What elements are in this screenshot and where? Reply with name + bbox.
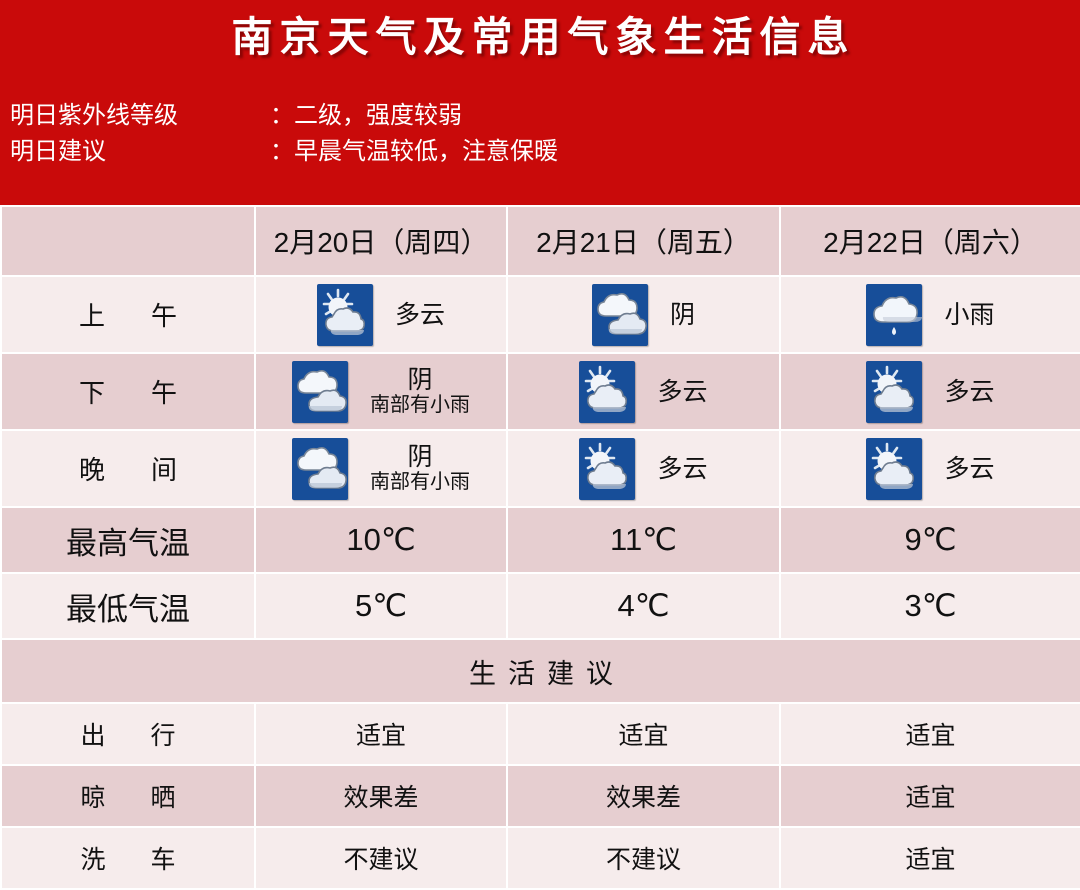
drying-day1: 效果差 — [255, 765, 507, 827]
uv-index-label: 明日紫外线等级 — [10, 98, 270, 134]
weather-text: 阴 南部有小雨 — [370, 366, 470, 416]
table-row-temp-high: 最高气温 10℃ 11℃ 9℃ — [1, 507, 1080, 573]
table-row-section-header: 生活建议 — [1, 639, 1080, 703]
row-label-afternoon: 下 午 — [1, 353, 255, 430]
partly-cloudy-icon — [866, 361, 922, 423]
carwash-day1: 不建议 — [255, 827, 507, 889]
weather-cell-morning-day1: 多云 — [255, 276, 507, 353]
table-row-morning: 上 午 — [1, 276, 1080, 353]
advice-label: 明日建议 — [10, 134, 270, 170]
table-row-afternoon: 下 午 阴 南部有小雨 — [1, 353, 1080, 430]
banner: 南京天气及常用气象生活信息 明日紫外线等级 ：二级，强度较弱 明日建议 ：早晨气… — [0, 0, 1080, 205]
weather-text: 小雨 — [944, 301, 994, 329]
temp-high-day3: 9℃ — [780, 507, 1080, 573]
weather-text: 多云 — [657, 378, 707, 406]
temp-high-day2: 11℃ — [507, 507, 780, 573]
light-rain-icon — [866, 284, 922, 346]
weather-text: 阴 南部有小雨 — [370, 443, 470, 493]
weather-cell-afternoon-day2: 多云 — [507, 353, 780, 430]
banner-detail-lines: 明日紫外线等级 ：二级，强度较弱 明日建议 ：早晨气温较低，注意保暖 — [10, 98, 1070, 170]
travel-day3: 适宜 — [780, 703, 1080, 765]
weather-text: 多云 — [657, 455, 707, 483]
table-row-drying: 晾 晒 效果差 效果差 适宜 — [1, 765, 1080, 827]
partly-cloudy-icon — [579, 361, 635, 423]
uv-index-line: 明日紫外线等级 ：二级，强度较弱 — [10, 98, 1070, 134]
table-corner-cell — [1, 206, 255, 276]
weather-table: 2月20日（周四） 2月21日（周五） 2月22日（周六） 上 午 — [0, 205, 1080, 890]
weather-cell-evening-day1: 阴 南部有小雨 — [255, 430, 507, 507]
row-label-evening: 晚 间 — [1, 430, 255, 507]
temp-low-day3: 3℃ — [780, 573, 1080, 639]
section-title-life-advice: 生活建议 — [1, 639, 1080, 703]
weather-cell-afternoon-day3: 多云 — [780, 353, 1080, 430]
row-label-travel: 出 行 — [1, 703, 255, 765]
weather-cell-evening-day2: 多云 — [507, 430, 780, 507]
date-header-day1: 2月20日（周四） — [255, 206, 507, 276]
uv-index-value: ：二级，强度较弱 — [270, 98, 1070, 134]
row-label-temp-high: 最高气温 — [1, 507, 255, 573]
temp-low-day2: 4℃ — [507, 573, 780, 639]
table-row-carwash: 洗 车 不建议 不建议 适宜 — [1, 827, 1080, 889]
travel-day1: 适宜 — [255, 703, 507, 765]
weather-text: 多云 — [944, 378, 994, 406]
table-row-temp-low: 最低气温 5℃ 4℃ 3℃ — [1, 573, 1080, 639]
temp-low-day1: 5℃ — [255, 573, 507, 639]
partly-cloudy-icon — [579, 438, 635, 500]
page-title: 南京天气及常用气象生活信息 — [0, 8, 1080, 66]
weather-cell-evening-day3: 多云 — [780, 430, 1080, 507]
advice-value: ：早晨气温较低，注意保暖 — [270, 134, 1070, 170]
table-row-travel: 出 行 适宜 适宜 适宜 — [1, 703, 1080, 765]
row-label-carwash: 洗 车 — [1, 827, 255, 889]
table-header-row: 2月20日（周四） 2月21日（周五） 2月22日（周六） — [1, 206, 1080, 276]
partly-cloudy-icon — [317, 284, 373, 346]
carwash-day2: 不建议 — [507, 827, 780, 889]
weather-cell-morning-day2: 阴 — [507, 276, 780, 353]
date-header-day2: 2月21日（周五） — [507, 206, 780, 276]
row-label-temp-low: 最低气温 — [1, 573, 255, 639]
overcast-icon — [292, 361, 348, 423]
advice-line: 明日建议 ：早晨气温较低，注意保暖 — [10, 134, 1070, 170]
row-label-drying: 晾 晒 — [1, 765, 255, 827]
weather-cell-morning-day3: 小雨 — [780, 276, 1080, 353]
overcast-icon — [592, 284, 648, 346]
weather-text: 阴 — [670, 301, 695, 329]
partly-cloudy-icon — [866, 438, 922, 500]
date-header-day3: 2月22日（周六） — [780, 206, 1080, 276]
weather-text: 多云 — [944, 455, 994, 483]
table-row-evening: 晚 间 阴 南部有小雨 — [1, 430, 1080, 507]
drying-day2: 效果差 — [507, 765, 780, 827]
weather-cell-afternoon-day1: 阴 南部有小雨 — [255, 353, 507, 430]
temp-high-day1: 10℃ — [255, 507, 507, 573]
row-label-morning: 上 午 — [1, 276, 255, 353]
weather-info-page: 南京天气及常用气象生活信息 明日紫外线等级 ：二级，强度较弱 明日建议 ：早晨气… — [0, 0, 1080, 874]
carwash-day3: 适宜 — [780, 827, 1080, 889]
overcast-icon — [292, 438, 348, 500]
weather-text: 多云 — [395, 301, 445, 329]
travel-day2: 适宜 — [507, 703, 780, 765]
drying-day3: 适宜 — [780, 765, 1080, 827]
